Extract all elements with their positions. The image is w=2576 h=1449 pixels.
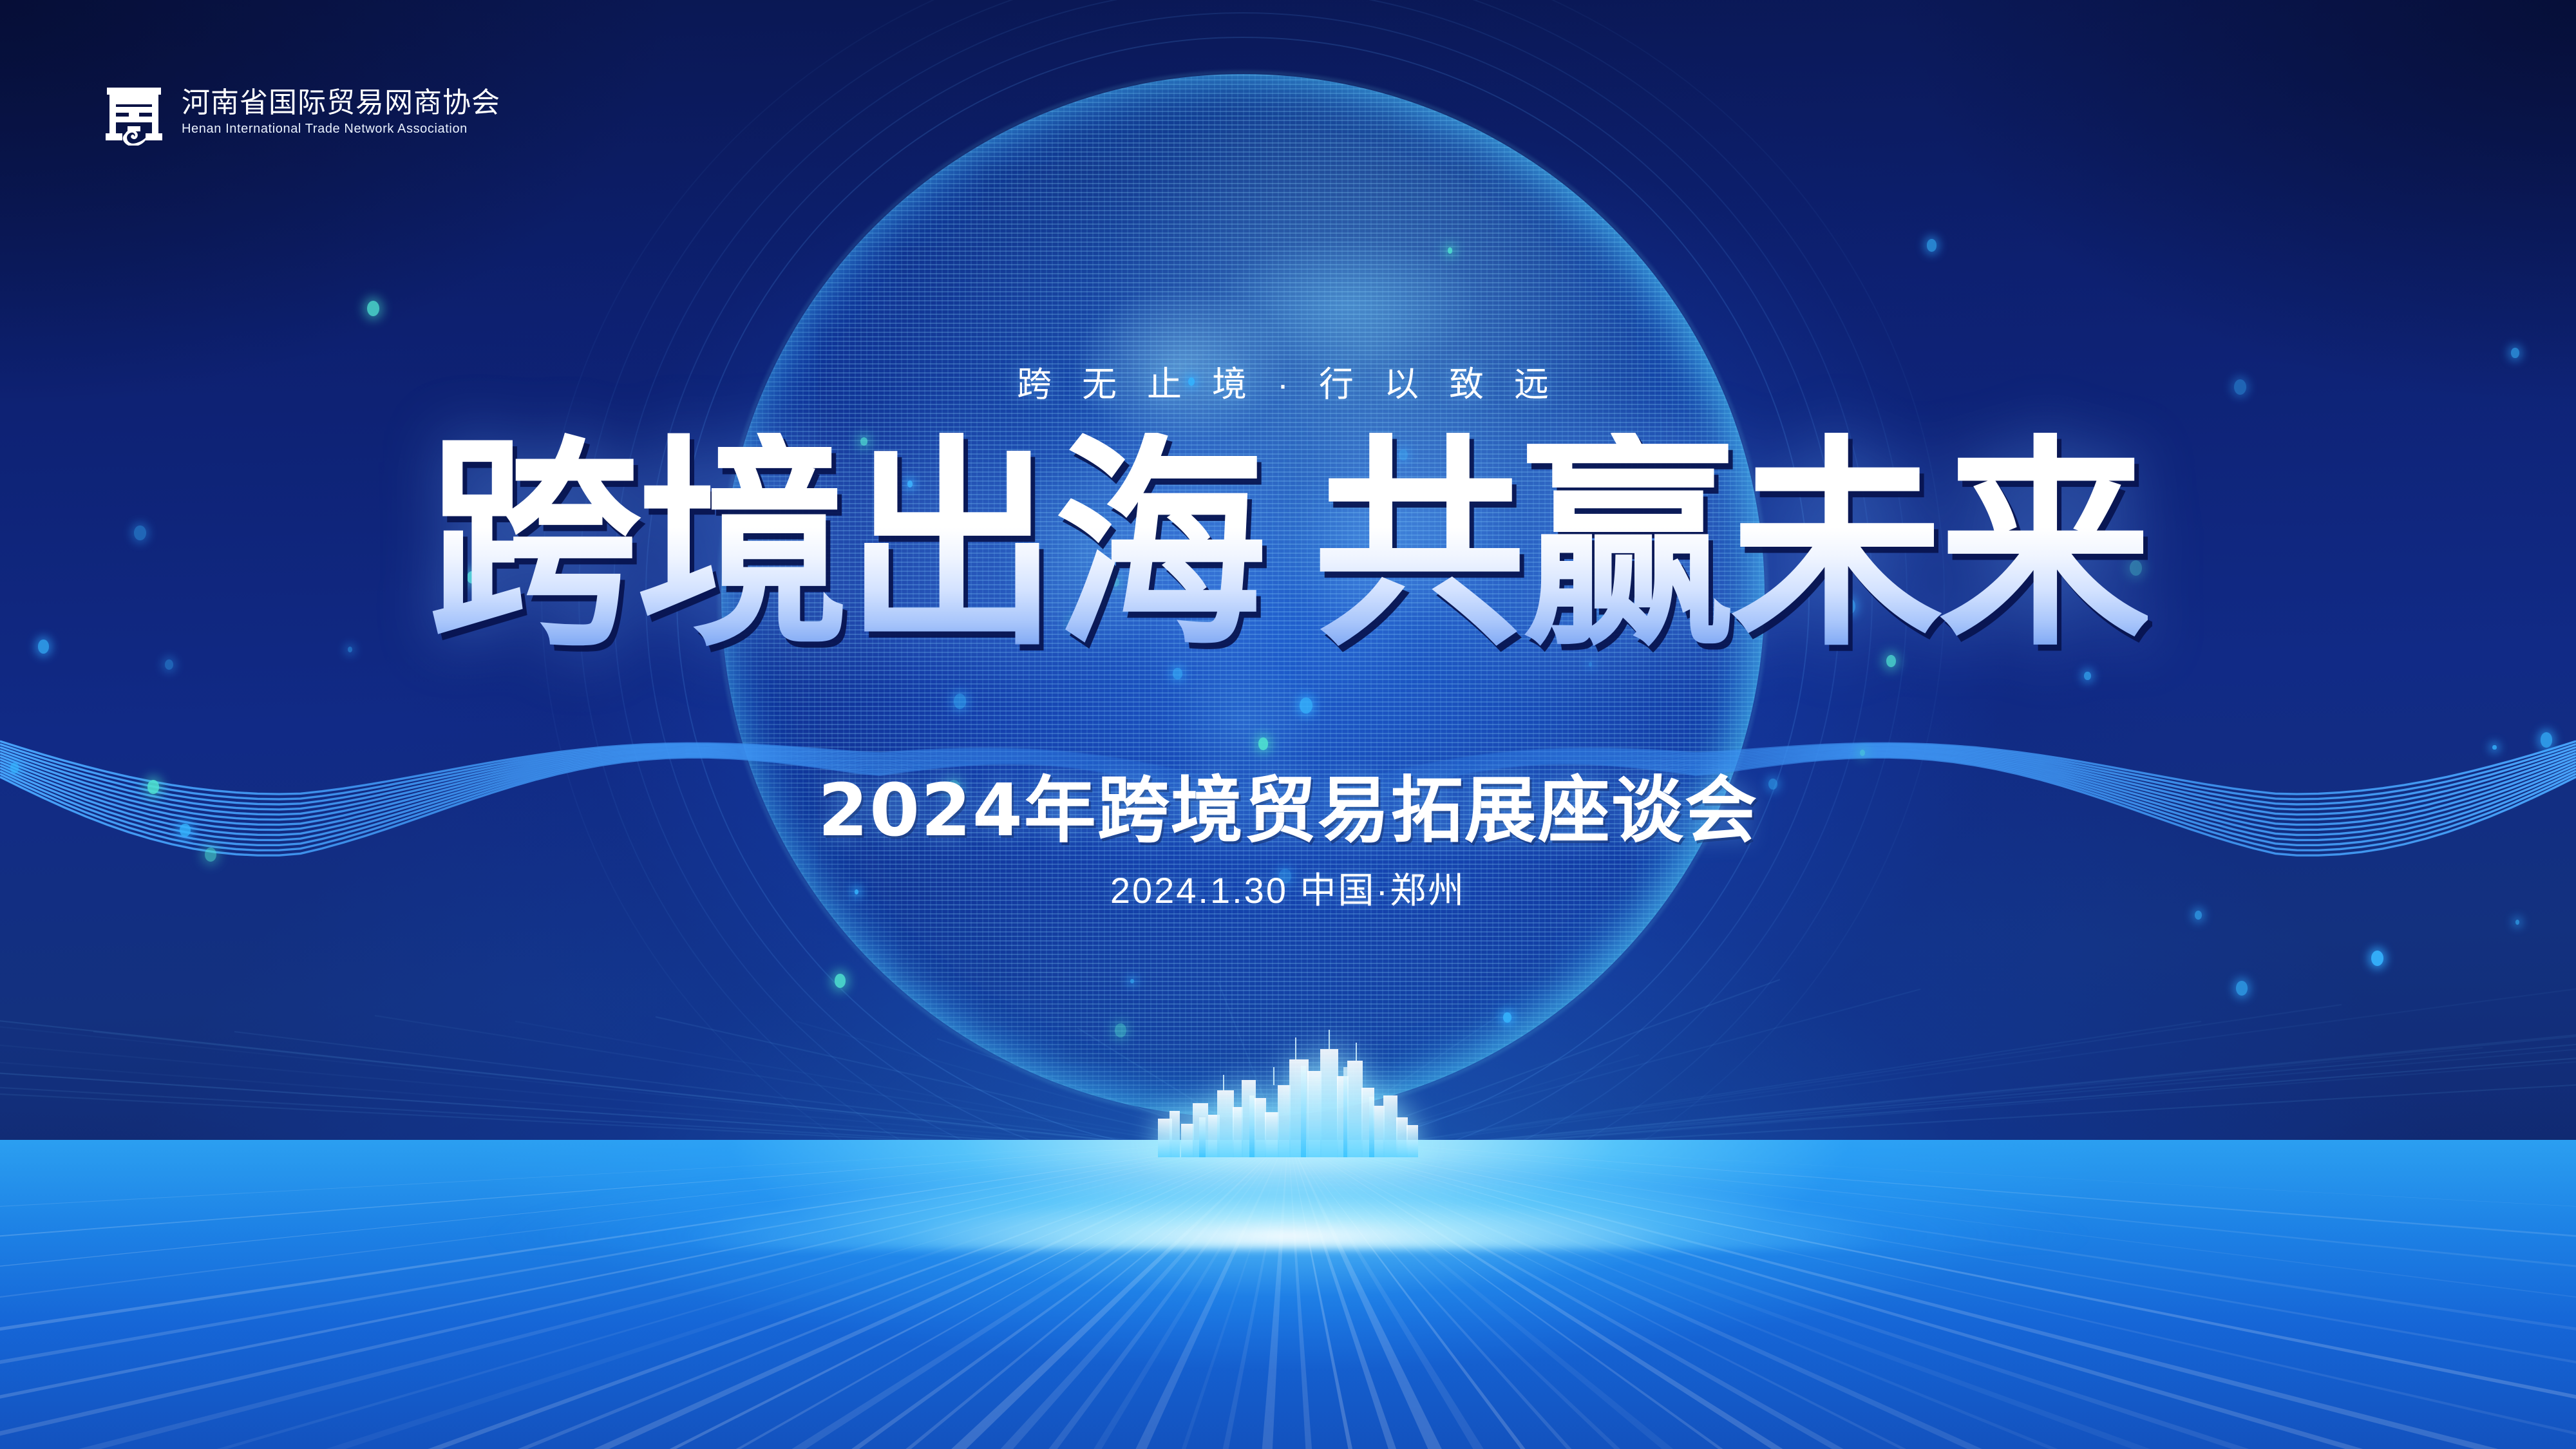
logo-name-en: Henan International Trade Network Associ… (182, 122, 500, 137)
logo-name-cn: 河南省国际贸易网商协会 (182, 88, 500, 118)
tagline: 跨 无 止 境 · 行 以 致 远 (0, 355, 2576, 406)
headline-part-2: 共赢未来 (1313, 433, 2148, 658)
seal-script-emblem-icon (103, 79, 165, 146)
event-datetime-location: 2024.1.30 中国·郑州 (0, 862, 2576, 914)
headline-part-1: 跨境出海 (428, 433, 1263, 658)
logo-text-block: 河南省国际贸易网商协会 Henan International Trade Ne… (182, 88, 500, 136)
city-skyline-icon (1153, 1021, 1423, 1159)
event-subtitle: 2024年跨境贸易拓展座谈会 (0, 752, 2576, 857)
headline: 跨境出海 共赢未来 (0, 433, 2576, 645)
association-logo[interactable]: 河南省国际贸易网商协会 Henan International Trade Ne… (103, 79, 500, 146)
event-banner: 河南省国际贸易网商协会 Henan International Trade Ne… (0, 0, 2576, 1449)
